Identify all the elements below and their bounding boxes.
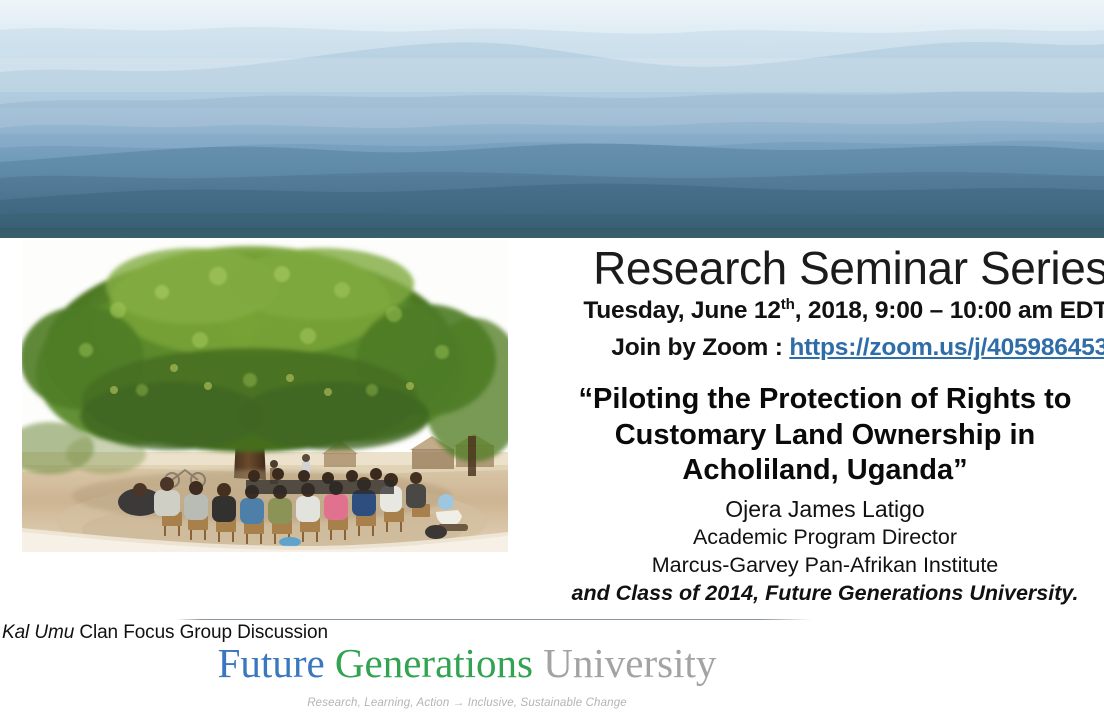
photo-caption-italic: Kal Umu — [2, 622, 74, 643]
join-by-zoom-line: Join by Zoom : https://zoom.us/j/4059864… — [528, 334, 1104, 362]
speaker-organization: Marcus-Garvey Pan-Afrikan Institute — [542, 552, 1104, 580]
talk-title-line-3: Acholiland, Uganda” — [542, 453, 1104, 488]
future-generations-university-logo: Future Generations University Research, … — [0, 643, 1104, 711]
focus-group-photo — [22, 240, 508, 592]
speaker-class-affiliation: and Class of 2014, Future Generations Un… — [542, 580, 1104, 608]
logo-wordmark: Future Generations University — [218, 643, 717, 684]
talk-title-line-2: Customary Land Ownership in — [542, 418, 1104, 453]
join-by-zoom-label: Join by Zoom : — [611, 334, 789, 361]
series-title: Research Seminar Series — [528, 244, 1104, 292]
zoom-meeting-link[interactable]: https://zoom.us/j/405986453 — [789, 334, 1104, 361]
logo-word-generations: Generations — [335, 640, 533, 686]
logo-word-future: Future — [218, 640, 325, 686]
speaker-block: Ojera James Latigo Academic Program Dire… — [528, 495, 1104, 608]
mountain-banner-photo — [0, 0, 1104, 238]
talk-title: “Piloting the Protection of Rights to Cu… — [528, 382, 1104, 488]
seminar-announcement-slide: Kal Umu Clan Focus Group Discussion Rese… — [0, 0, 1104, 716]
date-suffix: , 2018, 9:00 – 10:00 am EDT — [795, 297, 1104, 324]
date-ordinal: th — [781, 296, 795, 313]
logo-word-university: University — [543, 640, 716, 686]
talk-title-line-1: “Piloting the Protection of Rights to — [542, 382, 1104, 417]
seminar-details-column: Research Seminar Series Tuesday, June 12… — [528, 244, 1104, 608]
speaker-name: Ojera James Latigo — [542, 495, 1104, 524]
speaker-role: Academic Program Director — [542, 524, 1104, 552]
seminar-datetime: Tuesday, June 12th, 2018, 9:00 – 10:00 a… — [528, 296, 1104, 325]
date-prefix: Tuesday, June 12 — [583, 297, 780, 324]
logo-tagline: Research, Learning, Action → Inclusive, … — [218, 697, 717, 709]
horizontal-divider — [176, 619, 812, 620]
